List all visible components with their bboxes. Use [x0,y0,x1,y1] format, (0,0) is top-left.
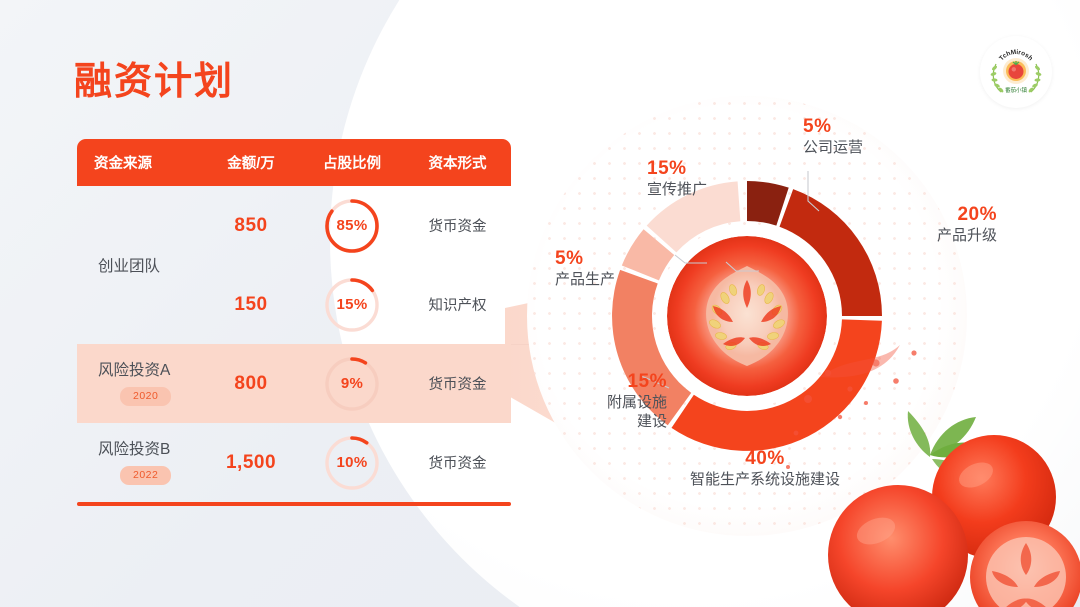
chart-label-text: 附属设施 建设 [552,394,667,432]
share-ring: 9% [323,355,381,413]
row-amount: 850 [234,215,267,237]
connector-product-manufacture [675,255,707,263]
chart-label-company-operation[interactable]: 5% 公司运营 [803,116,863,158]
table-row-highlighted[interactable]: 风险投资A 2020 800 9% 货币资金 [77,344,511,423]
row-year-badge: 2020 [120,387,171,405]
row-amount: 150 [234,294,267,316]
row-year-badge: 2022 [120,466,171,484]
chart-label-text: 宣传推广 [647,181,707,200]
column-header-source: 资金来源 [77,152,202,173]
row-form: 货币资金 [429,452,487,473]
share-ring-label: 9% [323,355,381,413]
row-source: 风险投资A [94,361,170,382]
svg-text:番茄小镇: 番茄小镇 [1005,86,1028,94]
chart-label-auxiliary-facility[interactable]: 15% 附属设施 建设 [552,371,667,432]
table-row[interactable]: 850 85% 货币资金 [77,186,511,265]
column-header-amount: 金额/万 [202,152,300,173]
chart-label-value: 40% [675,448,855,470]
row-form: 知识产权 [429,294,487,315]
chart-label-text: 产品升级 [897,227,997,246]
share-ring: 85% [323,197,381,255]
table-bottom-bar [77,502,511,506]
chart-label-value: 15% [552,371,667,393]
column-header-share: 占股比例 [300,152,404,173]
funding-table: 资金来源 金额/万 占股比例 资本形式 创业团队 850 85% 货币资金 [77,139,511,510]
share-ring-label: 85% [323,197,381,255]
row-amount: 800 [234,373,267,395]
page-title: 融资计划 [74,50,234,105]
connector-company-operation [808,171,819,211]
chart-label-text: 智能生产系统设施建设 [675,471,855,490]
column-header-form: 资本形式 [404,152,511,173]
row-form: 货币资金 [429,373,487,394]
table-body: 创业团队 850 85% 货币资金 150 [77,186,511,510]
donut-chart: 5% 公司运营 20% 产品升级 40% 智能生产系统设施建设 15% 附属设施… [527,96,997,556]
table-row[interactable]: 150 15% 知识产权 [77,265,511,344]
chart-label-value: 5% [803,116,863,138]
chart-label-promotion[interactable]: 15% 宣传推广 [647,158,707,200]
row-form: 货币资金 [429,215,487,236]
chart-label-text: 公司运营 [803,139,863,158]
chart-label-product-manufacture[interactable]: 5% 产品生产 [555,248,615,290]
chart-label-smart-production[interactable]: 40% 智能生产系统设施建设 [675,448,855,490]
chart-label-product-upgrade[interactable]: 20% 产品升级 [897,204,997,246]
chart-label-text: 产品生产 [555,271,615,290]
share-ring: 15% [323,276,381,334]
chart-label-value: 5% [555,248,615,270]
share-ring-label: 10% [323,434,381,492]
table-header-row: 资金来源 金额/万 占股比例 资本形式 [77,139,511,186]
connector-promotion [726,262,759,271]
share-ring-label: 15% [323,276,381,334]
chart-label-value: 20% [897,204,997,226]
row-amount: 1,500 [226,452,276,474]
row-source: 风险投资B [94,440,170,461]
share-ring: 10% [323,434,381,492]
chart-label-value: 15% [647,158,707,180]
table-row[interactable]: 风险投资B 2022 1,500 10% 货币资金 [77,423,511,502]
